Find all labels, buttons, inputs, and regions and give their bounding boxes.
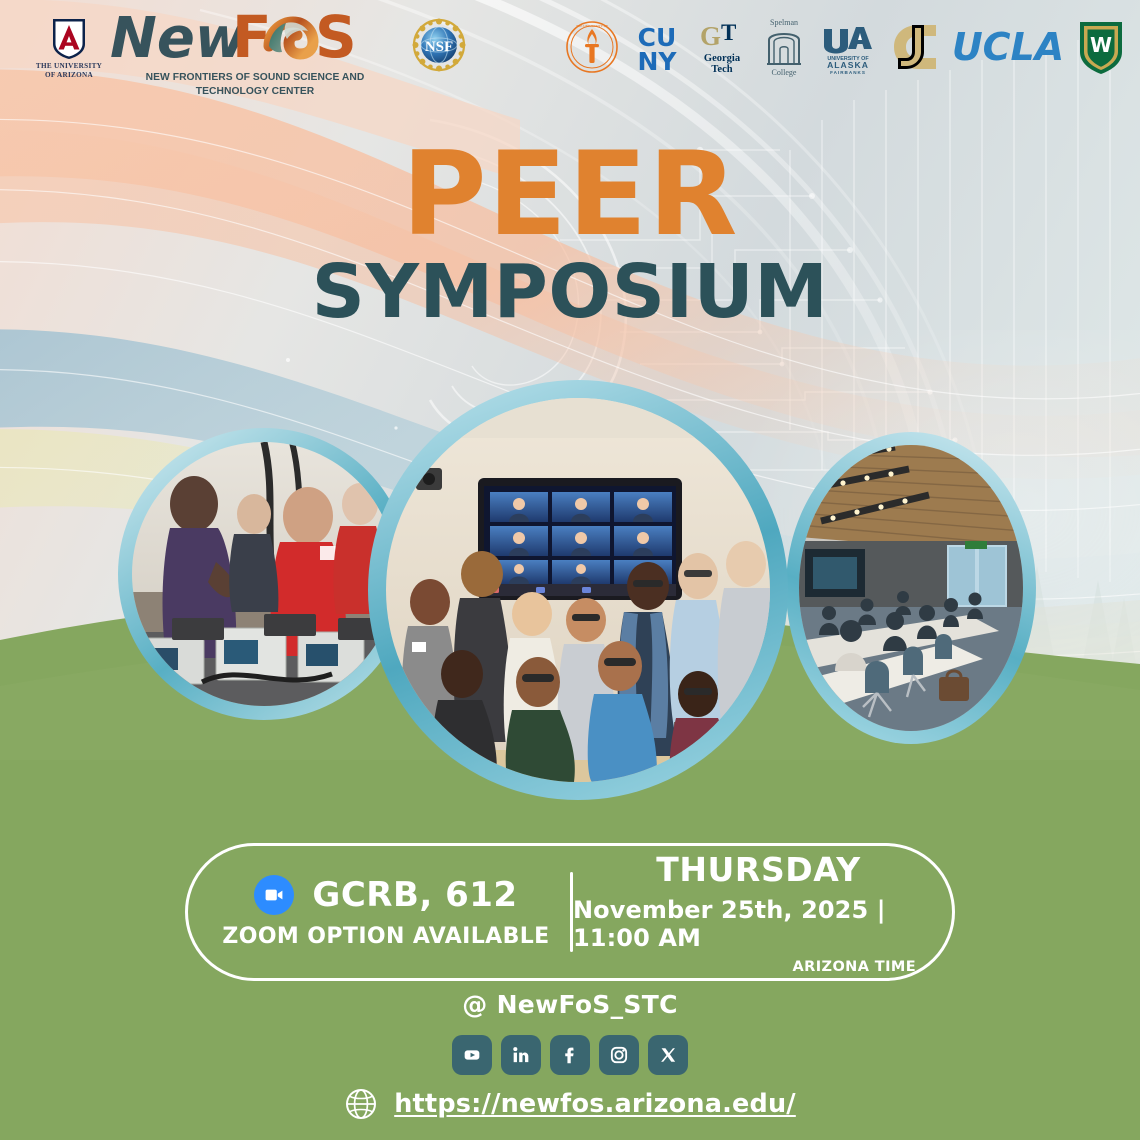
svg-text:College: College bbox=[772, 68, 797, 77]
svg-text:Tech: Tech bbox=[711, 64, 732, 75]
x-twitter-icon bbox=[657, 1044, 679, 1066]
website-row[interactable]: https://newfos.arizona.edu/ bbox=[344, 1087, 796, 1121]
facebook-icon bbox=[559, 1044, 581, 1066]
instagram-link[interactable] bbox=[599, 1035, 639, 1075]
globe-icon bbox=[344, 1087, 378, 1121]
svg-text:Georgia: Georgia bbox=[704, 53, 741, 64]
newfos-wordmark-icon: New F S bbox=[110, 8, 400, 70]
partner-logo-wayne-state: W bbox=[1076, 16, 1126, 78]
ua-line1: THE UNIVERSITY bbox=[36, 62, 102, 71]
zoom-option-note: ZOOM OPTION AVAILABLE bbox=[222, 924, 549, 949]
arizona-shield-icon bbox=[49, 16, 89, 60]
photo-circle-right bbox=[786, 432, 1036, 744]
zoom-video-icon bbox=[254, 875, 294, 915]
svg-text:ALASKA: ALASKA bbox=[827, 60, 869, 70]
event-date-time: November 25th, 2025 | 11:00 AM bbox=[573, 896, 944, 952]
room-row: GCRB, 612 bbox=[254, 875, 517, 915]
partner-logo-cuny: CU NY bbox=[632, 16, 682, 78]
newfos-tagline-line2: TECHNOLOGY CENTER bbox=[110, 85, 400, 99]
instagram-icon bbox=[608, 1044, 630, 1066]
svg-text:T: T bbox=[721, 20, 736, 45]
ua-logo-text: THE UNIVERSITY OF ARIZONA bbox=[36, 62, 102, 80]
georgia-tech-logo-icon: G T Georgia Tech bbox=[696, 18, 748, 76]
svg-text:New: New bbox=[110, 8, 247, 70]
svg-text:FAIRBANKS: FAIRBANKS bbox=[830, 70, 866, 75]
partner-logos: THE UNIVERSITY OF CU NY G T Georgia Tech bbox=[566, 14, 1126, 80]
newfos-tagline-line1: NEW FRONTIERS OF SOUND SCIENCE AND bbox=[110, 71, 400, 85]
poster-canvas: THE UNIVERSITY OF ARIZONA New F bbox=[0, 0, 1140, 1140]
photo-audience bbox=[799, 445, 1023, 731]
youtube-icon bbox=[461, 1044, 483, 1066]
newfos-tagline: NEW FRONTIERS OF SOUND SCIENCE AND TECHN… bbox=[110, 71, 400, 98]
youtube-link[interactable] bbox=[452, 1035, 492, 1075]
cuny-logo-icon: CU NY bbox=[632, 19, 682, 75]
social-links bbox=[452, 1035, 688, 1075]
facebook-link[interactable] bbox=[550, 1035, 590, 1075]
event-info-pill: GCRB, 612 ZOOM OPTION AVAILABLE THURSDAY… bbox=[185, 843, 955, 981]
uaf-logo-icon: UNIVERSITY OF ALASKA FAIRBANKS bbox=[820, 19, 876, 75]
nsf-seal-icon: NSF bbox=[411, 17, 467, 73]
svg-text:NY: NY bbox=[637, 47, 677, 75]
website-url[interactable]: https://newfos.arizona.edu/ bbox=[394, 1089, 796, 1119]
poster-header: THE UNIVERSITY OF ARIZONA New F bbox=[0, 0, 1140, 120]
event-timezone: ARIZONA TIME bbox=[793, 959, 916, 975]
ucla-logo-icon: UCLA bbox=[954, 24, 1062, 70]
x-twitter-link[interactable] bbox=[648, 1035, 688, 1075]
event-location-block: GCRB, 612 ZOOM OPTION AVAILABLE bbox=[188, 875, 570, 949]
photo-group-hybrid bbox=[386, 398, 770, 782]
torch-seal-icon: THE UNIVERSITY OF bbox=[566, 21, 618, 73]
partner-logo-georgia-tech: G T Georgia Tech bbox=[696, 16, 748, 78]
partner-logo-ucla: UCLA bbox=[954, 16, 1062, 78]
photo-circle-center bbox=[368, 380, 788, 800]
social-handle: @ NewFoS_STC bbox=[462, 990, 677, 1019]
event-datetime-block: THURSDAY November 25th, 2025 | 11:00 AM … bbox=[573, 850, 952, 975]
cu-logo-icon bbox=[890, 22, 940, 72]
svg-text:W: W bbox=[1090, 33, 1112, 57]
ua-line2: OF ARIZONA bbox=[36, 71, 102, 80]
nsf-label: NSF bbox=[425, 39, 453, 55]
svg-text:THE UNIVERSITY OF: THE UNIVERSITY OF bbox=[576, 24, 608, 28]
page-title-peer: PEER bbox=[0, 140, 1140, 249]
linkedin-icon bbox=[510, 1044, 532, 1066]
event-room: GCRB, 612 bbox=[312, 875, 517, 915]
svg-text:G: G bbox=[700, 21, 721, 51]
svg-text:Spelman: Spelman bbox=[770, 18, 798, 27]
university-of-arizona-logo: THE UNIVERSITY OF ARIZONA bbox=[30, 16, 108, 82]
partner-logo-spelman-college: Spelman College bbox=[762, 16, 806, 78]
photo-lab-demo bbox=[132, 442, 396, 706]
poster-title: PEER SYMPOSIUM bbox=[0, 140, 1140, 331]
partner-logo-univ-tennessee: THE UNIVERSITY OF bbox=[566, 16, 618, 78]
spelman-arch-icon: Spelman College bbox=[762, 16, 806, 78]
poster-footer: @ NewFoS_STC bbox=[0, 990, 1140, 1121]
wayne-state-shield-icon: W bbox=[1076, 18, 1126, 76]
photo-circle-left bbox=[118, 428, 410, 720]
event-day: THURSDAY bbox=[656, 850, 861, 889]
svg-text:S: S bbox=[315, 8, 357, 70]
partner-logo-uaf: UNIVERSITY OF ALASKA FAIRBANKS bbox=[820, 16, 876, 78]
partner-logo-cu-boulder bbox=[890, 16, 940, 78]
linkedin-link[interactable] bbox=[501, 1035, 541, 1075]
page-title-symposium: SYMPOSIUM bbox=[0, 255, 1140, 330]
newfos-logo: New F S NEW FRONTIERS OF SOUND SCIENCE A… bbox=[110, 8, 400, 112]
svg-text:UCLA: UCLA bbox=[954, 25, 1062, 69]
